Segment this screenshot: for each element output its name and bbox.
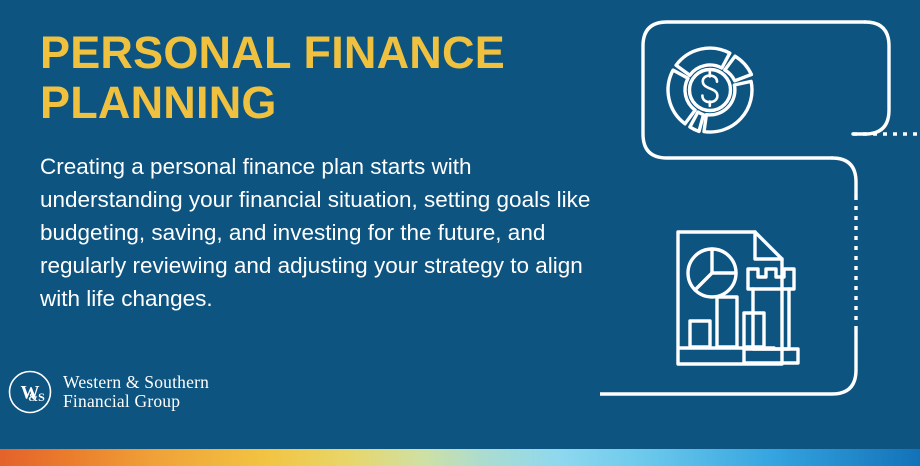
- logo-wordmark: Western & Southern Financial Group: [63, 373, 209, 411]
- gradient-accent-bar: [0, 449, 920, 466]
- logo-monogram-icon: W &S: [6, 368, 54, 416]
- body-paragraph: Creating a personal finance plan starts …: [40, 150, 610, 315]
- dollar-sign-icon: [702, 72, 717, 106]
- report-document-rook-icon: [678, 232, 798, 364]
- infographic-canvas: PERSONAL FINANCE PLANNING Creating a per…: [0, 0, 920, 466]
- bar-chart-icon: [680, 297, 774, 348]
- chess-rook-icon: [744, 269, 798, 363]
- page-title: PERSONAL FINANCE PLANNING: [40, 28, 600, 128]
- svg-text:&S: &S: [28, 390, 45, 404]
- donut-chart-dollar-icon: [668, 48, 752, 132]
- pie-chart-icon: [688, 249, 736, 297]
- illustration-group: [600, 0, 920, 466]
- brand-logo: W &S Western & Southern Financial Group: [6, 368, 209, 416]
